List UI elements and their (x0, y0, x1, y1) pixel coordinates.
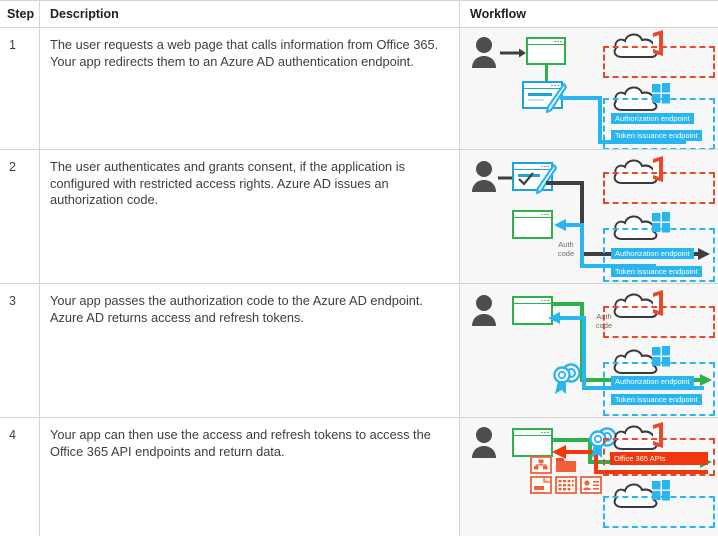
row-step-number-cell: 3 (0, 284, 40, 417)
table-row: 4 Your app can then use the access and r… (0, 418, 718, 536)
auth-code-label: Auth code (550, 240, 582, 258)
row-description-cell: Your app passes the authorization code t… (40, 284, 460, 417)
green-browser-icon (526, 37, 566, 65)
auth-code-label-line1: Auth (550, 240, 582, 249)
azure-ad-boundary (603, 496, 715, 528)
row-workflow-cell: Auth code Authorization endpo (460, 150, 718, 283)
row-description-cell: The user authenticates and grants consen… (40, 150, 460, 283)
azure-ad-boundary (603, 362, 715, 416)
row-step-number-cell: 4 (0, 418, 40, 536)
row-step-number-cell: 2 (0, 150, 40, 283)
green-browser-icon (512, 210, 553, 239)
folder-icon (555, 454, 577, 474)
row-workflow-cell: Auth code (460, 284, 718, 417)
checkmark-icon (518, 172, 534, 186)
column-header-workflow: Workflow (460, 1, 718, 27)
contacts-icon (580, 476, 602, 494)
row-description-cell: Your app can then use the access and ref… (40, 418, 460, 536)
step-description: Your app passes the authorization code t… (40, 284, 459, 326)
office-365-apis-label: Office 365 APIs (610, 452, 708, 465)
authorization-endpoint-label: Authorization endpoint (611, 248, 694, 259)
row-description-cell: The user requests a web page that calls … (40, 28, 460, 149)
column-header-workflow-label: Workflow (467, 7, 526, 21)
table-row: 1 The user requests a web page that call… (0, 28, 718, 150)
table-header-row: Step Description Workflow (0, 1, 718, 28)
arrow-user-to-app (500, 48, 526, 58)
auth-code-label-line2: code (550, 249, 582, 258)
column-header-step: Step (0, 1, 40, 27)
row-step-number-cell: 1 (0, 28, 40, 149)
workflow-diagram-step-3: Auth code (460, 284, 718, 417)
user-icon (470, 426, 498, 458)
user-icon (470, 160, 498, 192)
workflow-diagram-step-1: Authorization endpoint Token issuance en… (460, 28, 718, 149)
office-365-boundary (603, 306, 715, 338)
sharepoint-icon (530, 456, 552, 474)
step-number: 4 (0, 418, 39, 442)
authorization-endpoint-label: Authorization endpoint (611, 113, 694, 124)
step-number: 3 (0, 284, 39, 308)
workflow-diagram-step-4: Office 365 APIs (460, 418, 718, 536)
row-workflow-cell: Authorization endpoint Token issuance en… (460, 28, 718, 149)
certificate-token-icon (552, 362, 582, 396)
calendar-icon (555, 476, 577, 494)
mail-icon (530, 476, 552, 494)
row-workflow-cell: Office 365 APIs (460, 418, 718, 536)
user-icon (470, 294, 498, 326)
token-issuance-endpoint-label: Token issuance endpoint (611, 394, 702, 405)
column-header-description: Description (40, 1, 460, 27)
user-icon (470, 36, 498, 68)
table-row: 2 The user authenticates and grants cons… (0, 150, 718, 284)
authorization-endpoint-label: Authorization endpoint (611, 376, 694, 387)
workflow-diagram-step-2: Auth code Authorization endpo (460, 150, 718, 283)
step-description: The user authenticates and grants consen… (40, 150, 459, 209)
step-number: 1 (0, 28, 39, 52)
office-365-boundary (603, 172, 715, 204)
workflow-table: Step Description Workflow 1 The user req… (0, 0, 718, 536)
step-number: 2 (0, 150, 39, 174)
column-header-description-label: Description (40, 7, 119, 21)
column-header-step-label: Step (7, 7, 34, 21)
token-issuance-endpoint-label: Token issuance endpoint (611, 130, 702, 141)
token-issuance-endpoint-label: Token issuance endpoint (611, 266, 702, 277)
table-row: 3 Your app passes the authorization code… (0, 284, 718, 418)
step-description: Your app can then use the access and ref… (40, 418, 459, 460)
office-365-boundary (603, 46, 715, 78)
step-description: The user requests a web page that calls … (40, 28, 459, 70)
